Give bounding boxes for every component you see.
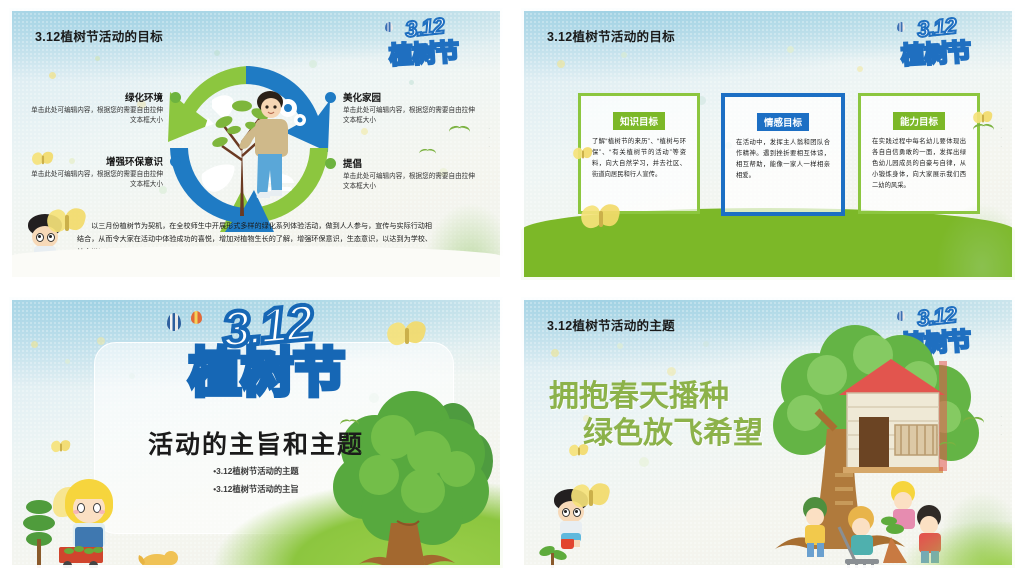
- bullet-dot: [325, 158, 336, 169]
- bullet-dot: [325, 92, 336, 103]
- goal-card-knowledge[interactable]: 知识目标 了解“植树节的来历”、“植树与环保”、“有关植树节的活动”等资料，向大…: [578, 93, 700, 214]
- butterfly-icon: [573, 147, 593, 161]
- goal-body: 在活动中，发挥主人翁和团队合作精神。遇到挫折要相互体谅，相互帮助，能像一家人一样…: [736, 137, 830, 181]
- slogan: 拥抱春天播种 绿色放飞希望: [549, 379, 769, 452]
- slide-4-canvas: 3.12植树节活动的主题 3.12 植树节 拥抱春天播种 绿色放飞希望: [520, 296, 1016, 569]
- goal-tag: 知识目标: [613, 112, 665, 130]
- bird-icon: [973, 124, 995, 134]
- brand-logo: 3.12 植树节: [383, 14, 483, 66]
- butterfly-icon: [569, 444, 589, 458]
- label-body: 单击此处可编辑内容，根据您的需要自由拉伸文本框大小: [31, 170, 163, 190]
- hero-logo: 3.12 植树节: [157, 304, 377, 419]
- grass-corner: [855, 522, 1015, 568]
- hero-bullet-0: •3.12植树节活动的主题: [9, 465, 503, 477]
- page-title: 3.12植树节活动的目标: [547, 26, 675, 45]
- goal-tag: 能力目标: [893, 112, 945, 130]
- boy-planting-tree-illustration: [200, 64, 308, 224]
- diagram-label-2: 美化家园 单击此处可编辑内容，根据您的需要自由拉伸文本框大小: [343, 90, 475, 126]
- hero-subtitle: 活动的主旨和主题: [9, 425, 503, 461]
- goal-card-emotion[interactable]: 情感目标 在活动中，发挥主人翁和团队合作精神。遇到挫折要相互体谅，相互帮助，能像…: [721, 93, 845, 216]
- page-title: 3.12植树节活动的主题: [547, 315, 675, 334]
- logo-name: 植树节: [900, 32, 971, 71]
- label-body: 单击此处可编辑内容，根据您的需要自由拉伸文本框大小: [31, 106, 163, 126]
- butterfly-icon: [973, 111, 993, 125]
- hot-air-balloon-icon: [167, 313, 181, 331]
- side-decor-text: · · ·: [998, 416, 1004, 439]
- hot-air-balloon-icon: [191, 311, 202, 324]
- slide-3-canvas: 3.12 植树节 活动的主旨和主题 •3.12植树节活动的主题 •3.12植树节…: [8, 296, 504, 569]
- cycle-diagram: [162, 56, 338, 232]
- side-decor-text: · · ·: [486, 127, 492, 150]
- brand-logo: 3.12 植树节: [895, 14, 995, 66]
- bullet-dot: [170, 156, 181, 167]
- butterfly-icon: [32, 152, 44, 161]
- butterfly-icon: [387, 321, 427, 349]
- label-body: 单击此处可编辑内容，根据您的需要自由拉伸文本框大小: [343, 106, 475, 126]
- slogan-line-1: 拥抱春天播种: [549, 380, 729, 413]
- slide-1[interactable]: 3.12植树节活动的目标 3.12 植树节: [0, 0, 512, 289]
- sapling-icon: [535, 543, 569, 569]
- label-heading: 绿化环境: [31, 90, 163, 104]
- bird-icon: [963, 417, 985, 427]
- diagram-label-0: 绿化环境 单击此处可编辑内容，根据您的需要自由拉伸文本框大小: [31, 90, 163, 126]
- puppy-icon: [137, 549, 179, 569]
- butterfly-icon: [571, 483, 611, 511]
- bullet-dot: [170, 92, 181, 103]
- goal-body: 了解“植树节的来历”、“植树与环保”、“有关植树节的活动”等资料，向大自然学习，…: [592, 136, 686, 180]
- side-decor-text: · · ·: [998, 127, 1004, 150]
- slide-3[interactable]: 3.12 植树节 活动的主旨和主题 •3.12植树节活动的主题 •3.12植树节…: [0, 289, 512, 577]
- bird-icon: [449, 126, 471, 136]
- slide-2[interactable]: 3.12植树节活动的目标 3.12 植树节 知识目标 了解“植树节的来历”、“植…: [512, 0, 1024, 289]
- hot-air-balloon-icon: [897, 22, 905, 32]
- fern-decoration: [905, 150, 1015, 280]
- hot-air-balloon-icon: [385, 22, 393, 32]
- slide-grid: 3.12植树节活动的目标 3.12 植树节: [0, 0, 1024, 577]
- goal-tag: 情感目标: [757, 113, 809, 131]
- hot-air-balloon-icon: [897, 311, 905, 321]
- butterfly-icon: [47, 208, 87, 236]
- slide-2-canvas: 3.12植树节活动的目标 3.12 植树节 知识目标 了解“植树节的来历”、“植…: [520, 7, 1016, 281]
- bird-icon: [340, 420, 360, 429]
- slide-1-canvas: 3.12植树节活动的目标 3.12 植树节: [8, 7, 504, 281]
- butterfly-icon: [581, 204, 621, 232]
- logo-name: 植树节: [388, 32, 459, 71]
- label-heading: 美化家园: [343, 90, 475, 104]
- cart-plants-icon: [61, 545, 105, 559]
- page-title: 3.12植树节活动的目标: [35, 26, 163, 45]
- slide-4[interactable]: 3.12植树节活动的主题 3.12 植树节 拥抱春天播种 绿色放飞希望: [512, 289, 1024, 577]
- bottom-hill: [9, 246, 503, 280]
- small-trees-icon: [21, 495, 61, 569]
